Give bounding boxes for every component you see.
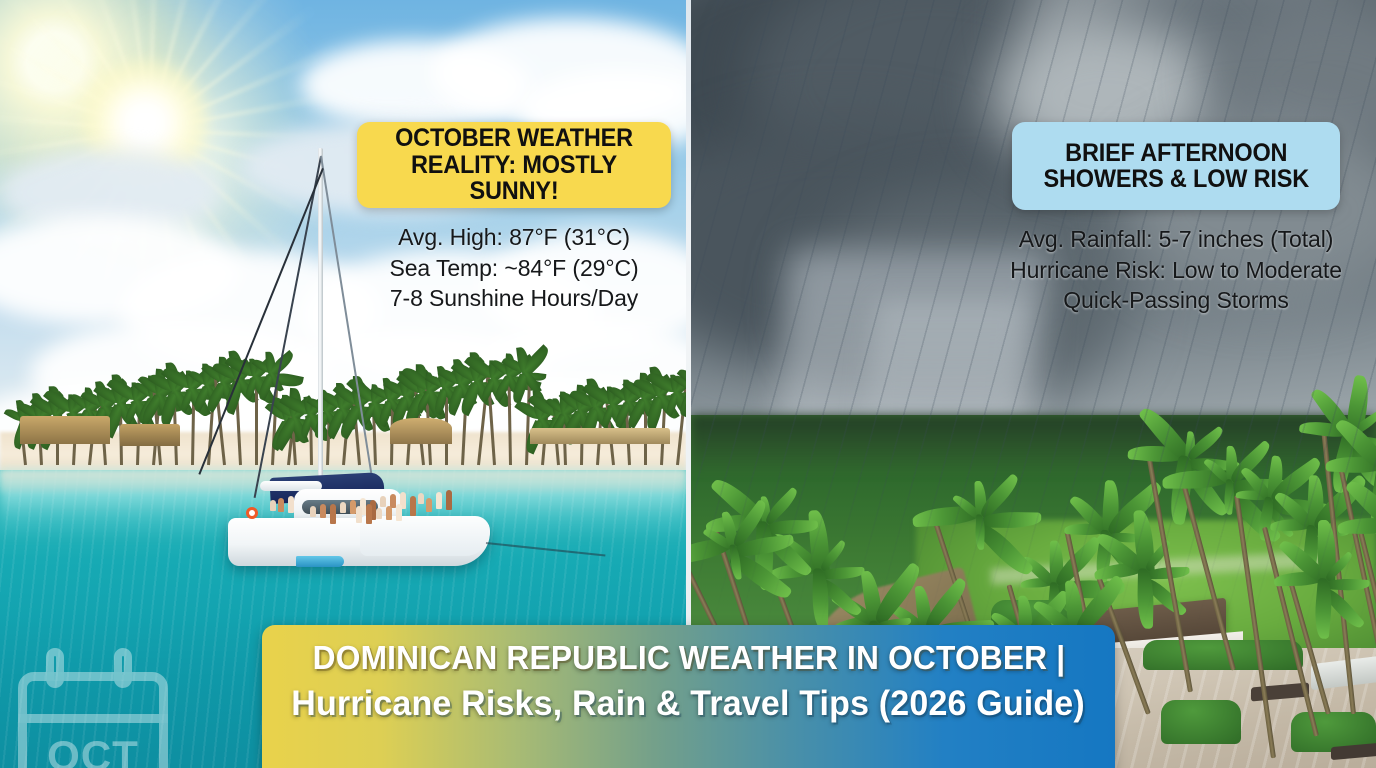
boat-passenger: [410, 496, 416, 516]
sunny-stat-sunshine-hours: 7-8 Sunshine Hours/Day: [357, 283, 671, 314]
boat-passenger: [340, 502, 346, 513]
rain-stat-hurricane-risk: Hurricane Risk: Low to Moderate: [1002, 255, 1350, 286]
dinghy-boat: [296, 556, 344, 567]
palm-tree: [679, 382, 686, 465]
sunny-stats-block: Avg. High: 87°F (31°C) Sea Temp: ~84°F (…: [357, 222, 671, 314]
boat-hull-second: [360, 516, 490, 556]
life-ring-icon: [246, 507, 258, 519]
rain-headline-badge: BRIEF AFTERNOON SHOWERS & LOW RISK: [1012, 122, 1340, 210]
boat-passenger: [418, 493, 424, 504]
calendar-icon: OCT: [10, 648, 178, 768]
boat-rigging: [198, 168, 323, 475]
boat-passenger: [376, 508, 382, 519]
title-line-2: Hurricane Risks, Rain & Travel Tips (202…: [292, 684, 1086, 724]
screenshot-stage: OCTOBER WEATHER REALITY: MOSTLY SUNNY! A…: [0, 0, 1376, 768]
boat-passenger: [330, 504, 336, 524]
title-banner: DOMINICAN REPUBLIC WEATHER IN OCTOBER | …: [262, 625, 1115, 768]
boat-mast: [318, 148, 323, 478]
boat-passenger: [310, 506, 316, 517]
sunny-headline-badge: OCTOBER WEATHER REALITY: MOSTLY SUNNY!: [357, 122, 671, 208]
boat-passenger: [366, 504, 372, 524]
boat-passenger: [320, 504, 326, 518]
boat-passenger: [446, 490, 452, 510]
boat-rigging: [254, 156, 322, 498]
sunny-headline-text: OCTOBER WEATHER REALITY: MOSTLY SUNNY!: [366, 125, 661, 205]
boat-passenger: [436, 492, 442, 509]
palm-tree: [1363, 522, 1376, 692]
sunny-headline-line1: OCTOBER WEATHER: [395, 124, 633, 152]
boat-passenger: [426, 498, 432, 512]
rain-stat-avg-rainfall: Avg. Rainfall: 5-7 inches (Total): [1002, 224, 1350, 255]
calendar-header-bar: [18, 714, 168, 723]
rain-stat-quick-storms: Quick-Passing Storms: [1002, 285, 1350, 316]
boat-passenger: [278, 498, 284, 512]
boat-passenger: [356, 506, 362, 523]
title-line-1: DOMINICAN REPUBLIC WEATHER IN OCTOBER |: [312, 639, 1065, 677]
rain-headline-text: BRIEF AFTERNOON SHOWERS & LOW RISK: [1043, 140, 1309, 193]
boat-passenger: [270, 500, 276, 511]
boat-passenger: [396, 504, 402, 521]
catamaran-boat: [210, 148, 500, 578]
rain-headline-line2: SHOWERS & LOW RISK: [1043, 165, 1309, 193]
sunny-stat-avg-high: Avg. High: 87°F (31°C): [357, 222, 671, 253]
sunny-headline-line2: REALITY: MOSTLY SUNNY!: [411, 151, 617, 206]
rain-stats-block: Avg. Rainfall: 5-7 inches (Total) Hurric…: [1002, 224, 1350, 316]
rain-headline-line1: BRIEF AFTERNOON: [1065, 139, 1287, 167]
boat-passenger: [380, 496, 386, 507]
boat-passenger: [288, 496, 294, 513]
boat-passenger: [386, 506, 392, 520]
sunny-stat-sea-temp: Sea Temp: ~84°F (29°C): [357, 253, 671, 284]
calendar-month-label: OCT: [18, 732, 168, 768]
palm-tree: [1291, 574, 1361, 714]
